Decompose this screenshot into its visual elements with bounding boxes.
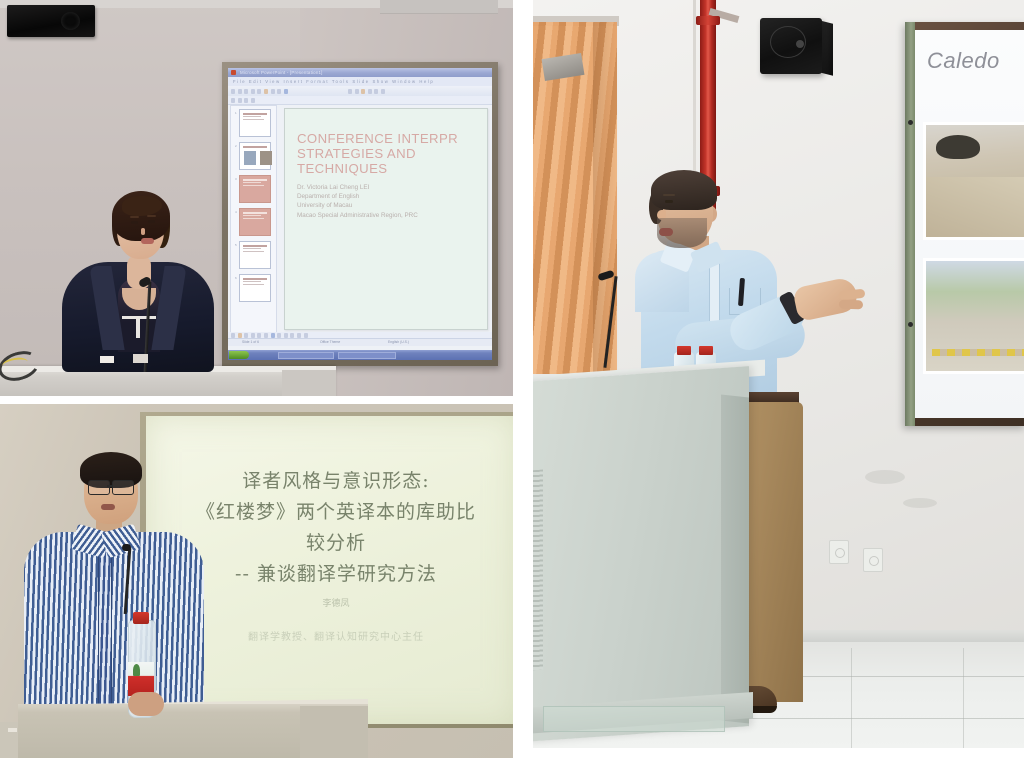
- collage-panel-top-left: Microsoft PowerPoint - [Presentation1] F…: [0, 0, 513, 396]
- water-bottle-label: [128, 662, 154, 696]
- windows-taskbar[interactable]: [228, 350, 492, 360]
- powerpoint-title-text: Microsoft PowerPoint - [Presentation1]: [240, 70, 323, 75]
- presenter-hair: [651, 170, 717, 210]
- eyeglasses-lens-right: [112, 480, 134, 495]
- slide-thumbnail[interactable]: 4: [239, 208, 271, 236]
- presenter-mouth: [659, 228, 673, 236]
- chinese-slide-line-1: 译者风格与意识形态:: [186, 466, 486, 497]
- lectern-front-face: [721, 395, 749, 724]
- podium-object: [133, 354, 148, 363]
- taskbar-item-powerpoint[interactable]: [338, 352, 396, 359]
- presenter-fingers: [839, 300, 863, 310]
- floor-tile-line: [851, 648, 852, 748]
- slide-thumbnail-number: 4: [235, 210, 237, 214]
- slide-thumbnail[interactable]: 2: [239, 142, 271, 170]
- slide-region: Macao Special Administrative Region, PRC: [297, 211, 486, 220]
- slide-title-line-2: STRATEGIES AND: [297, 146, 485, 161]
- presenter-eyebrow: [663, 194, 675, 196]
- slide-photo-construction-site: [923, 258, 1024, 374]
- screen-slide-title: Caledo: [927, 48, 1000, 74]
- start-button[interactable]: [229, 351, 249, 359]
- taskbar-item[interactable]: [278, 352, 334, 359]
- screen-mount-bolt: [908, 120, 913, 125]
- slide-thumbnail-number: 5: [235, 243, 237, 247]
- powerpoint-app-icon: [231, 70, 236, 75]
- powerpoint-window: Microsoft PowerPoint - [Presentation1] F…: [228, 68, 492, 360]
- lectern-vent-slots: [533, 470, 543, 671]
- wall-baseboard: [795, 630, 1024, 642]
- floor-tile-line: [963, 648, 964, 748]
- slide-thumbnail-number: 1: [235, 111, 237, 115]
- projection-screen: Microsoft PowerPoint - [Presentation1] F…: [228, 68, 492, 360]
- slide-thumbnail-number: 2: [235, 144, 237, 148]
- eyeglasses-lens-left: [88, 480, 110, 495]
- chinese-slide-line-2: 《红楼梦》两个英译本的库助比: [186, 497, 486, 528]
- pipe-collar-top: [696, 16, 720, 25]
- toolbar-icon-group-2[interactable]: [348, 89, 385, 94]
- presenter-eye-left: [131, 221, 138, 224]
- lectern-glass-panel: [543, 706, 725, 732]
- presenter-hand: [128, 692, 164, 716]
- collage-panel-bottom-left: 译者风格与意识形态: 《红楼梦》两个英译本的库助比 较分析 -- 兼谈翻译学研究…: [0, 404, 513, 758]
- wall-power-outlet: [863, 548, 883, 572]
- water-bottle-2-cap: [699, 346, 713, 355]
- water-bottle-cap: [133, 612, 149, 624]
- presenter-eye: [665, 200, 673, 203]
- floor-tile-line: [733, 718, 1024, 719]
- powerpoint-status-bar: Slide 1 of 6 Office Theme English (U.S.): [228, 338, 492, 346]
- slide-thumbnail[interactable]: 5: [239, 241, 271, 269]
- status-theme: Office Theme: [320, 340, 340, 344]
- slide-title-line-1: CONFERENCE INTERPR: [297, 131, 485, 146]
- podium-side-panel: [300, 706, 368, 758]
- status-language: English (U.S.): [388, 340, 409, 344]
- chinese-slide-presenter-role: 翻译学教授、翻译认知研究中心主任: [166, 628, 506, 643]
- wall-scuff: [865, 470, 905, 484]
- ceiling-vent: [380, 0, 498, 14]
- photo-collage: Microsoft PowerPoint - [Presentation1] F…: [0, 0, 1024, 768]
- slide-photo-aerial-mound: [923, 122, 1024, 240]
- toolbar-icon-group-1[interactable]: [231, 89, 288, 94]
- slide-title-line-3: TECHNIQUES: [297, 161, 485, 176]
- presenter-mouth: [141, 238, 154, 244]
- podium-side: [282, 370, 336, 396]
- slide-thumbnail[interactable]: 6: [239, 274, 271, 302]
- wall-power-outlet: [829, 540, 849, 564]
- chinese-slide-title: 译者风格与意识形态: 《红楼梦》两个英译本的库助比 较分析 -- 兼谈翻译学研究…: [186, 466, 486, 590]
- status-slide-count: Slide 1 of 6: [242, 340, 259, 344]
- water-bottle-1-cap: [677, 346, 691, 355]
- slide-thumbnail-number: 6: [235, 276, 237, 280]
- presenter-eye-right: [148, 220, 155, 223]
- slide-university: University of Macau: [297, 201, 486, 210]
- collage-panel-right: Caledo: [533, 0, 1024, 748]
- powerpoint-menu-text: File Edit View Insert Format Tools Slide…: [233, 79, 434, 84]
- speaker-lectern: [533, 366, 749, 742]
- powerpoint-slide-thumbnail-pane[interactable]: 1 2 3 4 5: [230, 105, 277, 334]
- slide-title: CONFERENCE INTERPR STRATEGIES AND TECHNI…: [297, 131, 485, 176]
- screen-left-edge: [905, 22, 915, 426]
- curtain-shadow: [593, 22, 619, 374]
- slide-thumbnail[interactable]: 1: [239, 109, 271, 137]
- wall-mounted-speaker-icon: [760, 18, 822, 74]
- desk-paper: [8, 728, 17, 732]
- shirt-placket: [98, 544, 112, 712]
- slide-presenter-name: Dr. Victoria Lai Cheng LEI: [297, 183, 486, 192]
- screen-mount-bolt: [908, 322, 913, 327]
- chinese-slide-presenter-name: 李德凤: [186, 596, 486, 609]
- toolbar-icon-group-3[interactable]: [231, 98, 255, 103]
- presenter-mouth: [101, 504, 115, 510]
- powerpoint-active-slide[interactable]: CONFERENCE INTERPR STRATEGIES AND TECHNI…: [284, 108, 488, 330]
- presenter-nose: [141, 228, 145, 235]
- chinese-slide-line-3: 较分析: [186, 528, 486, 559]
- microphone-head: [122, 544, 131, 551]
- chinese-slide-line-4: -- 兼谈翻译学研究方法: [186, 559, 486, 590]
- presenter-eyebrow-right: [147, 215, 156, 217]
- slide-department: Department of English: [297, 192, 486, 201]
- powerpoint-toolbar-formatting[interactable]: [228, 96, 492, 105]
- presenter-eyebrow-left: [130, 216, 139, 218]
- presenter-top-trim-vertical: [136, 316, 140, 338]
- eyeglasses-bridge: [107, 485, 113, 487]
- slide-thumbnail[interactable]: 3: [239, 175, 271, 203]
- ceiling-speaker-icon: [7, 5, 95, 37]
- slide-subtitle-block: Dr. Victoria Lai Cheng LEI Department of…: [297, 183, 486, 220]
- projection-screen: Caledo: [913, 30, 1024, 418]
- podium-paper: [100, 356, 114, 363]
- wall-scuff: [903, 498, 937, 508]
- slide-thumbnail-number: 3: [235, 177, 237, 181]
